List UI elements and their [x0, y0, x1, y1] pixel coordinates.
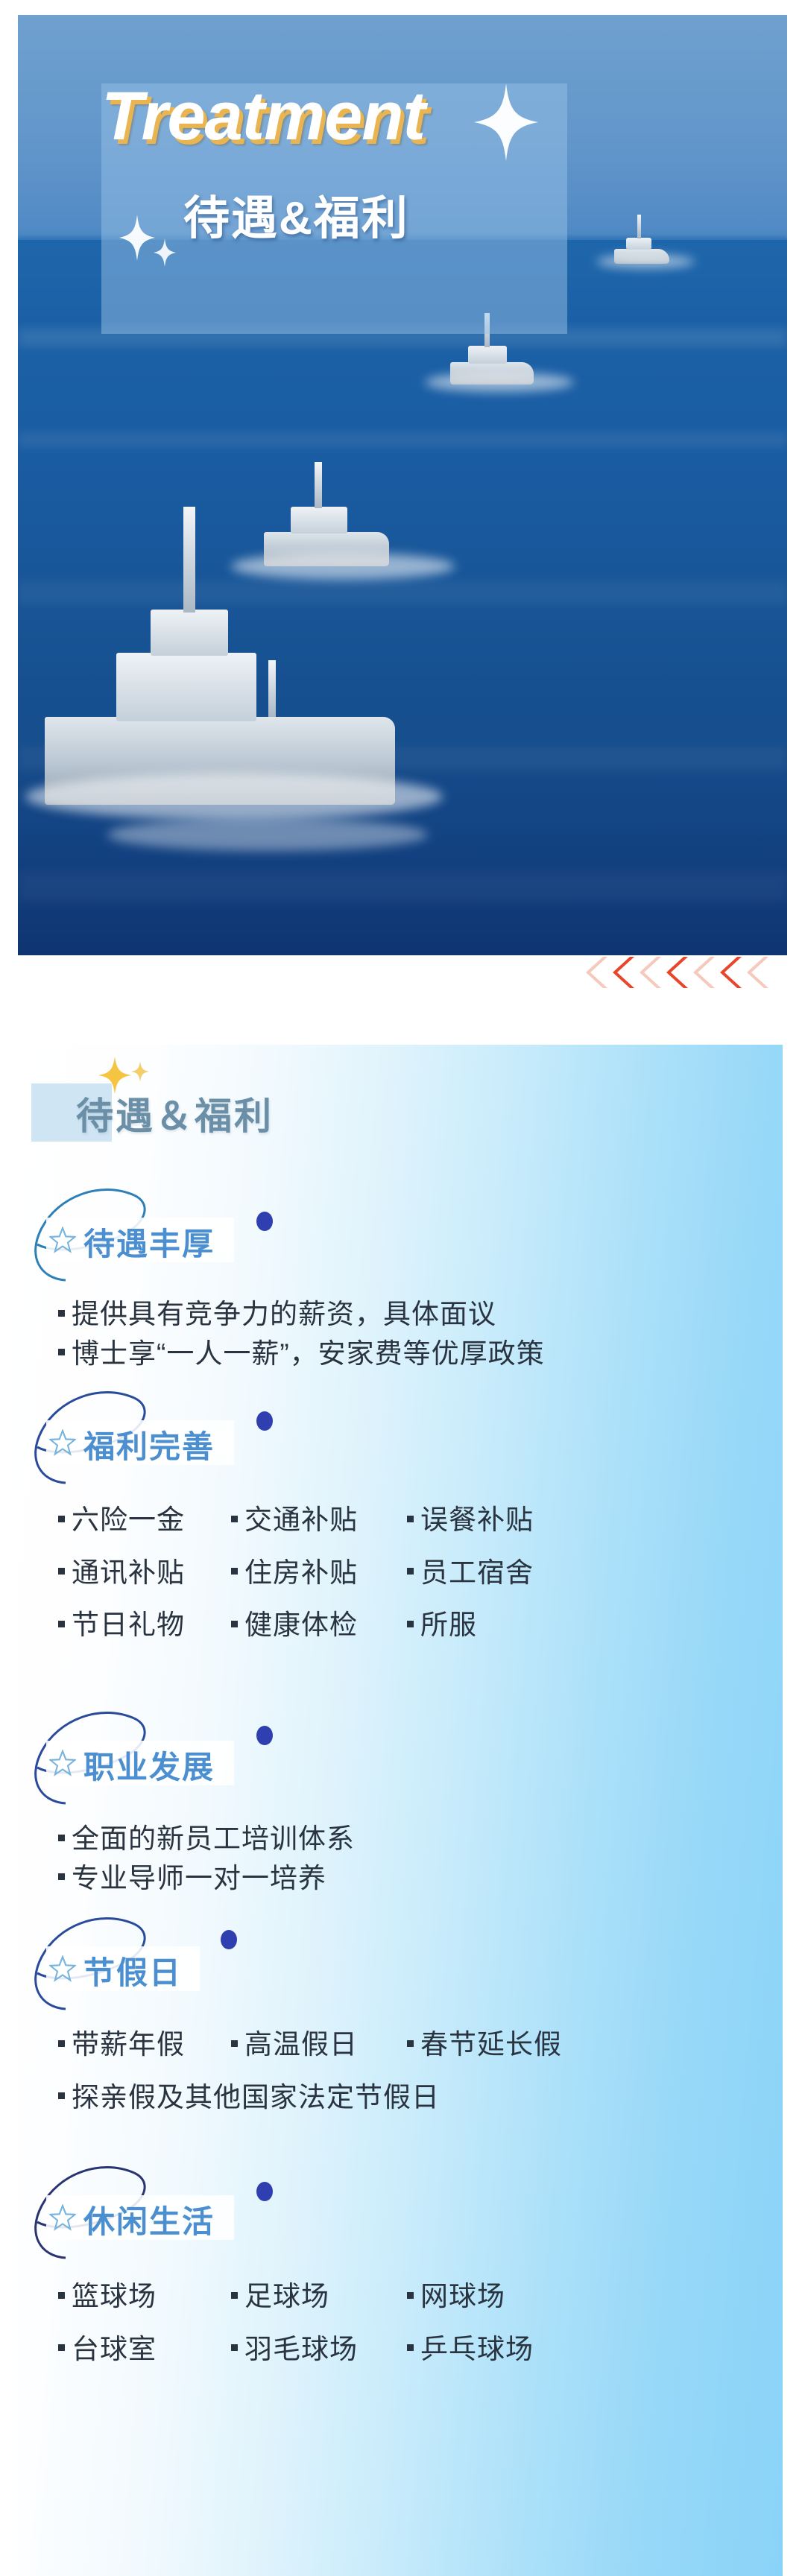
category-block: 职业发展 全面的新员工培训体系 专业导师一对一培养 [18, 1730, 783, 1794]
category-title: 待遇丰厚 [83, 1219, 215, 1265]
category-title: 休闲生活 [83, 2197, 215, 2242]
accent-dot [256, 2182, 273, 2201]
list-item-label: 足球场 [244, 2281, 329, 2311]
chevron-left-icon [604, 957, 634, 988]
chevron-left-icon [658, 957, 688, 988]
list-item-label: 全面的新员工培训体系 [72, 1823, 355, 1854]
list-item-label: 住房补贴 [244, 1557, 358, 1588]
list-item-label: 员工宿舍 [420, 1557, 534, 1588]
list-item: 高温假日 [231, 2025, 407, 2065]
list-item-label: 羽毛球场 [244, 2334, 358, 2364]
wave-streak [18, 872, 787, 902]
list-item-label: 提供具有竞争力的薪资，具体面议 [72, 1299, 496, 1329]
list-item: 误餐补贴 [407, 1501, 744, 1540]
category-title: 节假日 [83, 1948, 182, 1993]
list-item: 羽毛球场 [231, 2330, 407, 2370]
ship-foreground [45, 507, 395, 805]
list-item-label: 网球场 [420, 2281, 505, 2311]
category-items: 六险一金 交通补贴 误餐补贴 通讯补贴 住房补贴 员工宿舍 节日礼物 健康体检 … [58, 1501, 744, 1645]
chevron-left-icon [712, 957, 742, 988]
accent-dot [221, 1930, 237, 1949]
star-outline-icon [49, 1429, 76, 1456]
list-item-label: 所服 [420, 1610, 477, 1640]
list-item: 足球场 [231, 2277, 407, 2317]
list-item: 交通补贴 [231, 1501, 407, 1540]
list-item: 节日礼物 [58, 1606, 231, 1645]
category-items: 带薪年假 高温假日 春节延长假 探亲假及其他国家法定节假日 [58, 2025, 744, 2117]
ship-wake [596, 255, 695, 268]
category-block: 待遇丰厚 提供具有竞争力的薪资，具体面议 博士享“一人一薪”，安家费等优厚政策 [18, 1207, 783, 1271]
list-item-label: 节日礼物 [72, 1610, 185, 1640]
list-item: 六险一金 [58, 1501, 231, 1540]
category-title: 福利完善 [83, 1422, 215, 1467]
chevron-left-icon [631, 957, 661, 988]
page-title: 待遇＆福利 [76, 1086, 274, 1140]
ship-wake [107, 818, 428, 851]
list-item-label: 台球室 [72, 2334, 157, 2364]
star-outline-icon [49, 1750, 76, 1776]
hero-banner: Treatment 待遇&福利 [18, 15, 787, 955]
accent-dot [256, 1726, 273, 1745]
category-items: 全面的新员工培训体系 专业导师一对一培养 [58, 1820, 744, 1898]
chevron-left-icon [685, 957, 715, 988]
star-outline-icon [49, 1227, 76, 1253]
list-item-label: 误餐补贴 [420, 1504, 534, 1535]
content-panel: 待遇＆福利 待遇丰厚 提供具有 [18, 1045, 783, 2576]
list-item: 带薪年假 [58, 2025, 231, 2065]
list-item-label: 六险一金 [72, 1504, 185, 1535]
wave-streak [18, 432, 787, 447]
list-item: 全面的新员工培训体系 [58, 1820, 744, 1859]
hero-title-cn: 待遇&福利 [183, 180, 660, 247]
list-item-label: 篮球场 [72, 2281, 157, 2311]
ship-wake [425, 373, 574, 392]
star-outline-icon [49, 2204, 76, 2231]
list-item-label: 博士享“一人一薪”，安家费等优厚政策 [72, 1338, 545, 1369]
list-item: 员工宿舍 [407, 1554, 744, 1593]
list-item: 春节延长假 [407, 2025, 744, 2065]
list-item: 网球场 [407, 2277, 744, 2317]
chevron-left-icon [739, 957, 768, 988]
category-block: 休闲生活 篮球场 足球场 网球场 台球室 羽毛球场 乒乓球场 [18, 2185, 783, 2249]
sparkle-icon [131, 1061, 149, 1082]
list-item: 博士享“一人一薪”，安家费等优厚政策 [58, 1335, 744, 1374]
accent-dot [256, 1411, 273, 1431]
list-item: 健康体检 [231, 1606, 407, 1645]
category-block: 节假日 带薪年假 高温假日 春节延长假 探亲假及其他国家法定节假日 [18, 1936, 783, 2000]
list-item-label: 春节延长假 [420, 2029, 562, 2060]
ship-wake [25, 773, 443, 820]
list-item: 通讯补贴 [58, 1554, 231, 1593]
chevron-left-icon [578, 957, 607, 988]
list-item: 住房补贴 [231, 1554, 407, 1593]
list-item-label: 健康体检 [244, 1610, 358, 1640]
list-item: 探亲假及其他国家法定节假日 [58, 2078, 744, 2118]
accent-dot [256, 1212, 273, 1231]
list-item-label: 带薪年假 [72, 2029, 185, 2060]
category-items: 提供具有竞争力的薪资，具体面议 博士享“一人一薪”，安家费等优厚政策 [58, 1295, 744, 1373]
hero-title-en: Treatment [101, 77, 623, 156]
poster-page: Treatment 待遇&福利 [0, 0, 805, 2576]
list-item: 所服 [407, 1606, 744, 1645]
list-item-label: 探亲假及其他国家法定节假日 [72, 2082, 440, 2113]
list-item-label: 乒乓球场 [420, 2334, 534, 2364]
list-item-label: 通讯补贴 [72, 1557, 185, 1588]
category-block: 福利完善 六险一金 交通补贴 误餐补贴 通讯补贴 住房补贴 员工宿舍 节日礼物 … [18, 1410, 783, 1474]
list-item-label: 专业导师一对一培养 [72, 1863, 326, 1893]
category-title: 职业发展 [83, 1742, 215, 1788]
category-items: 篮球场 足球场 网球场 台球室 羽毛球场 乒乓球场 [58, 2277, 744, 2369]
list-item: 台球室 [58, 2330, 231, 2370]
list-item-label: 高温假日 [244, 2029, 358, 2060]
list-item: 乒乓球场 [407, 2330, 744, 2370]
star-outline-icon [49, 1955, 76, 1982]
list-item: 专业导师一对一培养 [58, 1859, 744, 1899]
chevron-divider [578, 957, 787, 988]
list-item-label: 交通补贴 [244, 1504, 358, 1535]
list-item: 篮球场 [58, 2277, 231, 2317]
list-item: 提供具有竞争力的薪资，具体面议 [58, 1295, 744, 1335]
